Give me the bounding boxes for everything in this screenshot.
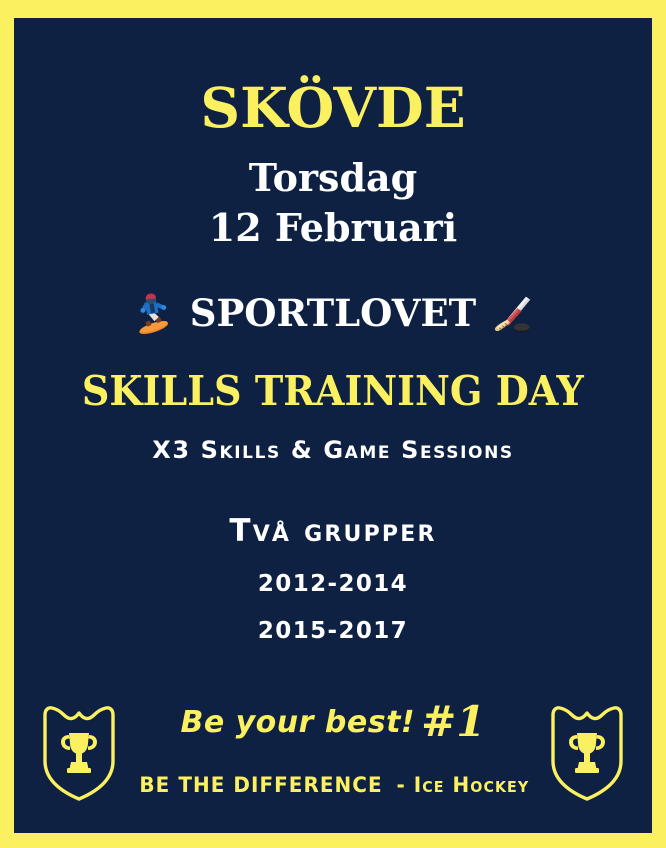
trophy-shield-icon (548, 699, 626, 802)
groups-title: Två grupper (229, 516, 436, 547)
event-date: 12 Februari (209, 208, 457, 248)
page-title: SKÖVDE (200, 80, 465, 135)
tagline-main: BE THE DIFFERENCE (139, 775, 382, 796)
group-range-1: 2012-2014 (258, 573, 408, 596)
snowboarder-icon (130, 291, 176, 337)
event-headline: SKILLS TRAINING DAY (82, 371, 584, 412)
sessions-subtitle: X3 Skills & Game Sessions (152, 438, 514, 462)
event-weekday: Torsdag (249, 158, 417, 198)
sportlovet-label: SPORTLOVET (190, 295, 476, 332)
poster-footer: Be your best!#1 BE THE DIFFERENCE - Ice … (14, 687, 652, 833)
tagline-sub: - Ice Hockey (397, 775, 530, 796)
slogan-row: Be your best!#1 (144, 701, 522, 743)
ice-hockey-stick-icon (490, 291, 536, 337)
sportlovet-row: SPORTLOVET (130, 291, 536, 337)
group-range-2: 2015-2017 (258, 620, 408, 643)
slogan-text: Be your best! (180, 705, 415, 740)
trophy-shield-icon (40, 699, 118, 802)
poster-inner-panel: SKÖVDE Torsdag 12 Februari SPORTLOVET (14, 18, 652, 833)
poster: SKÖVDE Torsdag 12 Februari SPORTLOVET (0, 0, 666, 848)
tagline-row: BE THE DIFFERENCE - Ice Hockey (124, 775, 542, 797)
slogan-number: #1 (421, 697, 485, 746)
